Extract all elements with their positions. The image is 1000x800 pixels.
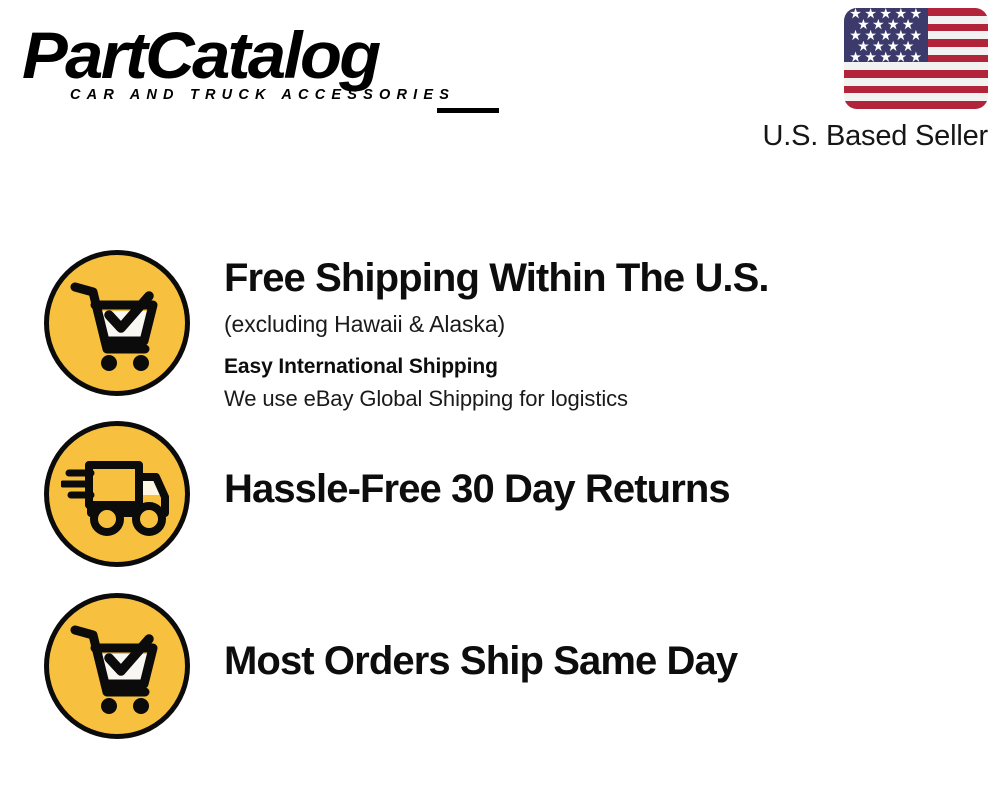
flag-star-row [844,8,928,19]
flag-star [903,41,914,52]
us-based-seller-badge: U.S. Based Seller [718,8,988,153]
flag-star [888,41,899,52]
flag-star [873,19,884,30]
flag-star [888,19,899,30]
flag-star [865,30,876,41]
brand-wordmark: PartCatalog [22,20,511,90]
shopping-cart-check-icon [44,250,190,396]
brand-logo[interactable]: PartCatalog CAR AND TRUCK ACCESSORIES [22,20,492,116]
flag-star-row [844,52,928,63]
feature-row-same-day-ship: Most Orders Ship Same Day [44,593,964,739]
flag-star [865,51,876,62]
feature-title: Free Shipping Within The U.S. [224,254,769,302]
feature-text-block: Most Orders Ship Same Day [224,593,737,685]
flag-star [903,19,914,30]
feature-text-block: Free Shipping Within The U.S. (excluding… [224,250,769,414]
flag-star [910,30,921,41]
feature-secondary-text: We use eBay Global Shipping for logistic… [224,384,769,414]
flag-star [880,30,891,41]
flag-star [865,8,876,19]
feature-row-free-shipping: Free Shipping Within The U.S. (excluding… [44,250,964,414]
flag-canton [844,8,928,62]
us-based-seller-label: U.S. Based Seller [718,119,988,153]
flag-star [880,8,891,19]
flag-star [858,41,869,52]
flag-star [895,8,906,19]
flag-star [850,8,861,19]
shopping-cart-check-icon [44,593,190,739]
feature-title: Hassle-Free 30 Day Returns [224,465,730,513]
flag-star [858,19,869,30]
feature-secondary-heading: Easy International Shipping [224,352,769,382]
flag-star [910,51,921,62]
feature-text-block: Hassle-Free 30 Day Returns [224,421,730,513]
flag-star [850,51,861,62]
brand-logo-rule [437,108,499,113]
us-flag-icon [844,8,988,109]
delivery-truck-icon [44,421,190,567]
flag-star [873,41,884,52]
flag-star-row [844,19,928,30]
flag-star [910,8,921,19]
flag-star [895,30,906,41]
feature-row-returns: Hassle-Free 30 Day Returns [44,421,964,567]
flag-star [850,30,861,41]
feature-subtitle: (excluding Hawaii & Alaska) [224,308,769,340]
flag-star [880,51,891,62]
feature-title: Most Orders Ship Same Day [224,637,737,685]
flag-star-row [844,41,928,52]
flag-star-row [844,30,928,41]
flag-star [895,51,906,62]
